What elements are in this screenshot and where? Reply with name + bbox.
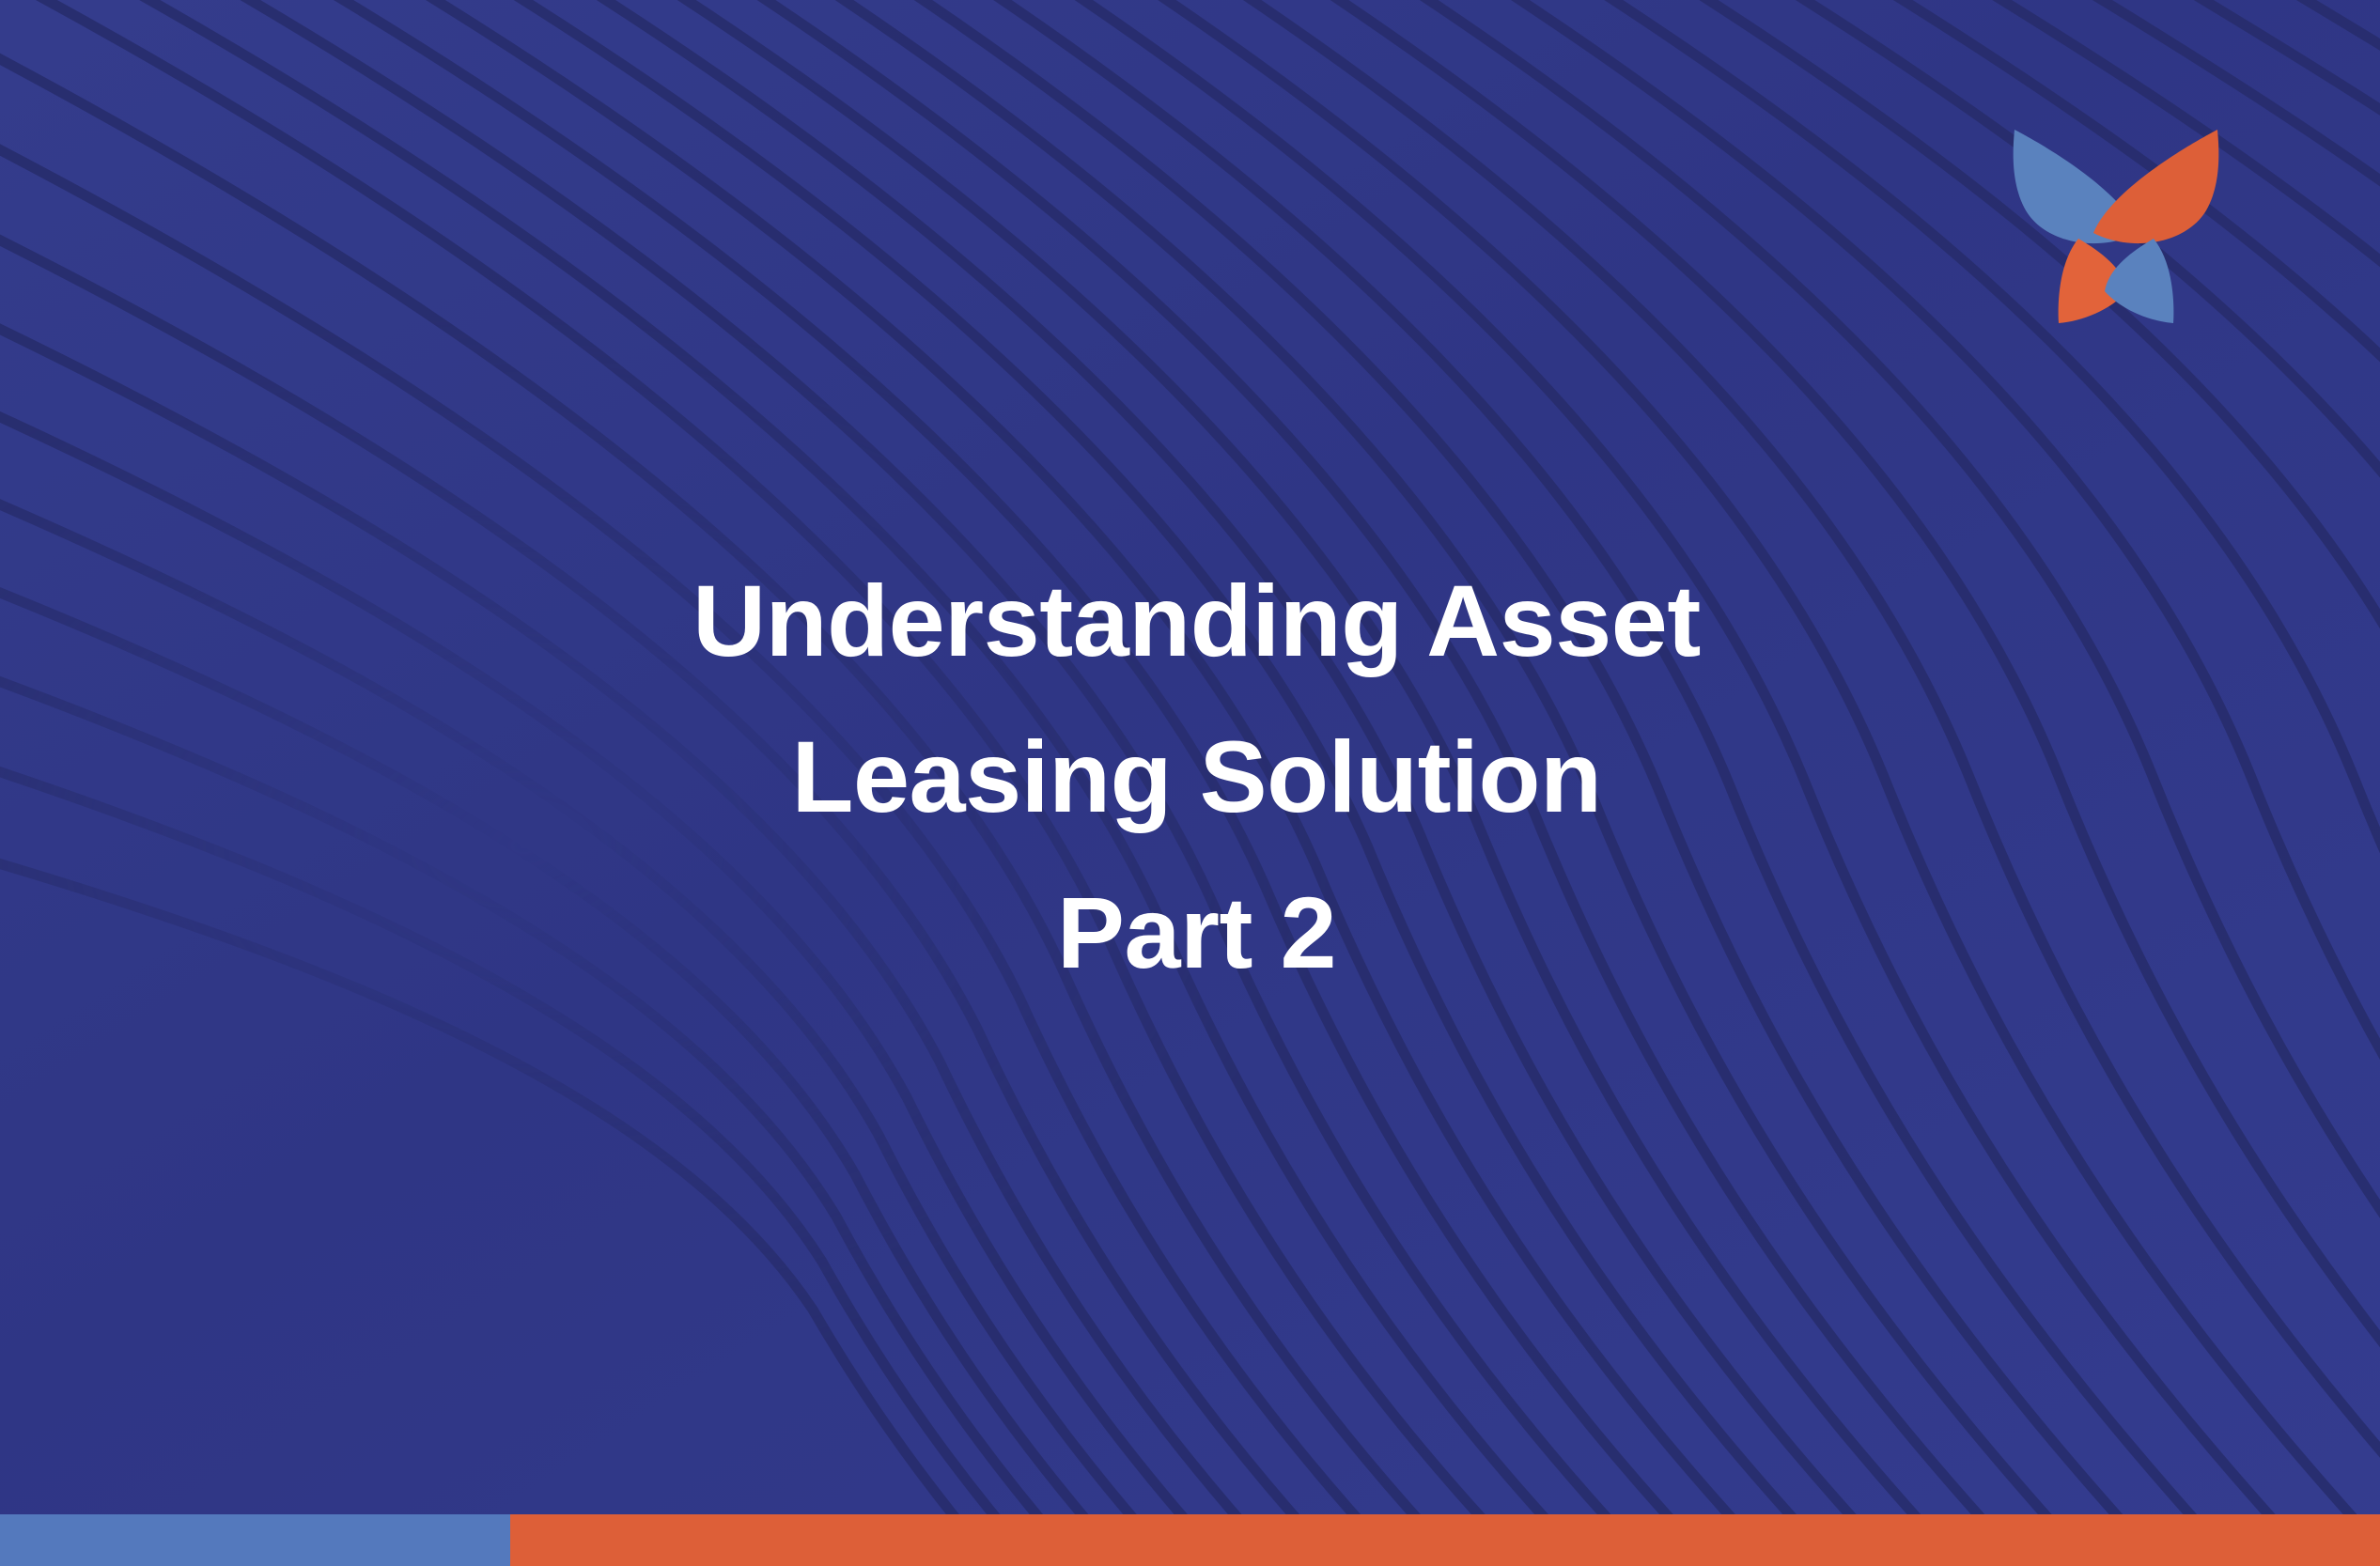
slide-title: Understanding Asset Leasing Solution Par… — [0, 543, 2380, 1011]
bottom-bar-blue-segment — [0, 1514, 510, 1566]
bottom-accent-bar — [0, 1514, 2380, 1566]
title-line-2: Leasing Solution — [13, 699, 2380, 855]
logo-petal-bottom-right — [2105, 239, 2173, 323]
bottom-bar-orange-segment — [510, 1514, 2380, 1566]
title-slide: Understanding Asset Leasing Solution Par… — [0, 0, 2380, 1566]
butterfly-logo — [2007, 128, 2225, 327]
title-line-3: Part 2 — [13, 855, 2380, 1011]
title-line-1: Understanding Asset — [13, 543, 2380, 699]
logo-petal-top-right — [2093, 130, 2218, 243]
